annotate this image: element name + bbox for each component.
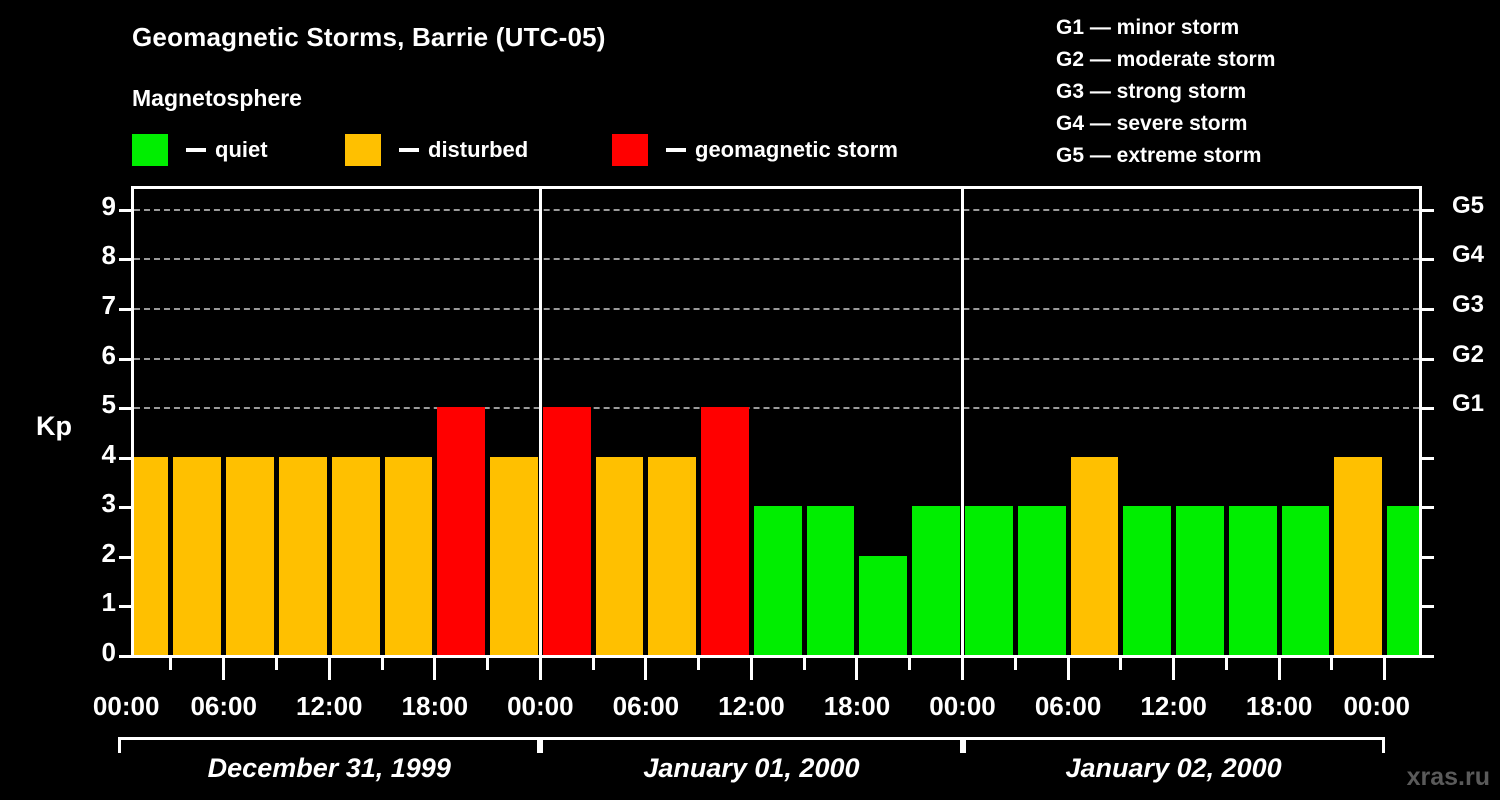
y-tick-label: 3 — [76, 488, 116, 519]
day-bracket — [540, 737, 962, 753]
y-tick-label: 2 — [76, 538, 116, 569]
y-tick-mark-right — [1422, 506, 1434, 509]
day-separator — [539, 189, 542, 655]
x-tick-mark — [1330, 658, 1333, 670]
x-tick-label: 00:00 — [929, 691, 996, 722]
x-tick-mark — [275, 658, 278, 670]
page-title: Geomagnetic Storms, Barrie (UTC-05) — [132, 22, 606, 53]
y-tick-mark — [119, 358, 131, 361]
y-tick-mark — [119, 605, 131, 608]
x-tick-mark — [961, 658, 964, 680]
y-tick-mark-right — [1422, 308, 1434, 311]
y-tick-mark — [119, 556, 131, 559]
x-tick-mark — [1278, 658, 1281, 680]
y-tick-mark — [119, 457, 131, 460]
legend-item: geomagnetic storm — [612, 133, 898, 167]
x-tick-mark — [750, 658, 753, 680]
x-tick-mark — [592, 658, 595, 670]
x-tick-mark — [1067, 658, 1070, 680]
y-tick-mark-right — [1422, 655, 1434, 658]
legend-label: geomagnetic storm — [695, 137, 898, 163]
legend-dash-icon — [666, 148, 686, 152]
x-tick-label: 18:00 — [1246, 691, 1313, 722]
y-tick-mark-right — [1422, 407, 1434, 410]
y-tick-mark — [119, 209, 131, 212]
quiet-swatch — [132, 134, 168, 166]
g-scale-row: G4 — severe storm — [1056, 108, 1486, 140]
x-tick-mark — [328, 658, 331, 680]
watermark: xras.ru — [1407, 763, 1490, 792]
legend-dash-icon — [399, 148, 419, 152]
storm-swatch — [612, 134, 648, 166]
g-scale-row: G2 — moderate storm — [1056, 44, 1486, 76]
y-tick-mark-right — [1422, 358, 1434, 361]
y-axis-title: Kp — [36, 411, 72, 442]
y-tick-mark-right — [1422, 209, 1434, 212]
legend-dash-icon — [186, 148, 206, 152]
y-tick-mark — [119, 655, 131, 658]
y-tick-label: 7 — [76, 290, 116, 321]
g-scale-row: G1 — minor storm — [1056, 12, 1486, 44]
x-tick-label: 12:00 — [1140, 691, 1207, 722]
x-tick-label: 06:00 — [1035, 691, 1102, 722]
x-tick-mark — [1225, 658, 1228, 670]
y-tick-mark-right — [1422, 605, 1434, 608]
x-tick-mark — [1014, 658, 1017, 670]
chart-subtitle: Magnetosphere — [132, 85, 302, 112]
day-bracket — [963, 737, 1385, 753]
x-tick-label: 18:00 — [402, 691, 469, 722]
x-tick-mark — [539, 658, 542, 680]
y-tick-mark — [119, 308, 131, 311]
day-separators — [134, 189, 1419, 655]
x-tick-label: 06:00 — [190, 691, 257, 722]
y-tick-mark — [119, 506, 131, 509]
x-tick-label: 18:00 — [824, 691, 891, 722]
legend-item: disturbed — [345, 133, 528, 167]
y-tick-label: 1 — [76, 587, 116, 618]
x-tick-mark — [908, 658, 911, 670]
x-tick-mark — [1383, 658, 1386, 680]
legend-label: quiet — [215, 137, 268, 163]
legend-item: quiet — [132, 133, 268, 167]
x-tick-label: 00:00 — [507, 691, 574, 722]
x-tick-label: 00:00 — [93, 691, 160, 722]
day-label: January 01, 2000 — [643, 753, 859, 784]
disturbed-swatch — [345, 134, 381, 166]
y-tick-label: 5 — [76, 389, 116, 420]
g-tick-label: G3 — [1452, 291, 1500, 319]
x-tick-mark — [644, 658, 647, 680]
g-scale-row: G3 — strong storm — [1056, 76, 1486, 108]
x-tick-mark — [222, 658, 225, 680]
day-separator — [961, 189, 964, 655]
y-tick-mark — [119, 258, 131, 261]
x-tick-mark — [1172, 658, 1175, 680]
g-tick-label: G5 — [1452, 192, 1500, 220]
x-tick-mark — [1119, 658, 1122, 670]
y-tick-label: 4 — [76, 439, 116, 470]
y-tick-mark-right — [1422, 556, 1434, 559]
x-tick-mark — [855, 658, 858, 680]
x-tick-mark — [169, 658, 172, 670]
day-label: December 31, 1999 — [208, 753, 451, 784]
legend-label: disturbed — [428, 137, 528, 163]
x-tick-label: 12:00 — [718, 691, 785, 722]
x-tick-label: 12:00 — [296, 691, 363, 722]
g-scale-legend: G1 — minor stormG2 — moderate stormG3 — … — [1056, 12, 1486, 172]
g-scale-row: G5 — extreme storm — [1056, 140, 1486, 172]
y-tick-label: 8 — [76, 240, 116, 271]
g-tick-label: G4 — [1452, 241, 1500, 269]
y-tick-label: 6 — [76, 340, 116, 371]
y-tick-label: 9 — [76, 191, 116, 222]
day-label: January 02, 2000 — [1066, 753, 1282, 784]
x-tick-mark — [697, 658, 700, 670]
g-tick-label: G2 — [1452, 341, 1500, 369]
x-tick-label: 00:00 — [1343, 691, 1410, 722]
chart-page: Geomagnetic Storms, Barrie (UTC-05) Magn… — [0, 0, 1500, 800]
x-tick-mark — [433, 658, 436, 680]
y-tick-label: 0 — [76, 637, 116, 668]
x-tick-mark — [486, 658, 489, 670]
y-tick-mark-right — [1422, 258, 1434, 261]
x-tick-label: 06:00 — [613, 691, 680, 722]
x-tick-mark — [381, 658, 384, 670]
plot-area — [131, 186, 1422, 658]
x-tick-mark — [803, 658, 806, 670]
y-tick-mark-right — [1422, 457, 1434, 460]
day-bracket — [118, 737, 540, 753]
y-tick-mark — [119, 407, 131, 410]
g-tick-label: G1 — [1452, 390, 1500, 418]
